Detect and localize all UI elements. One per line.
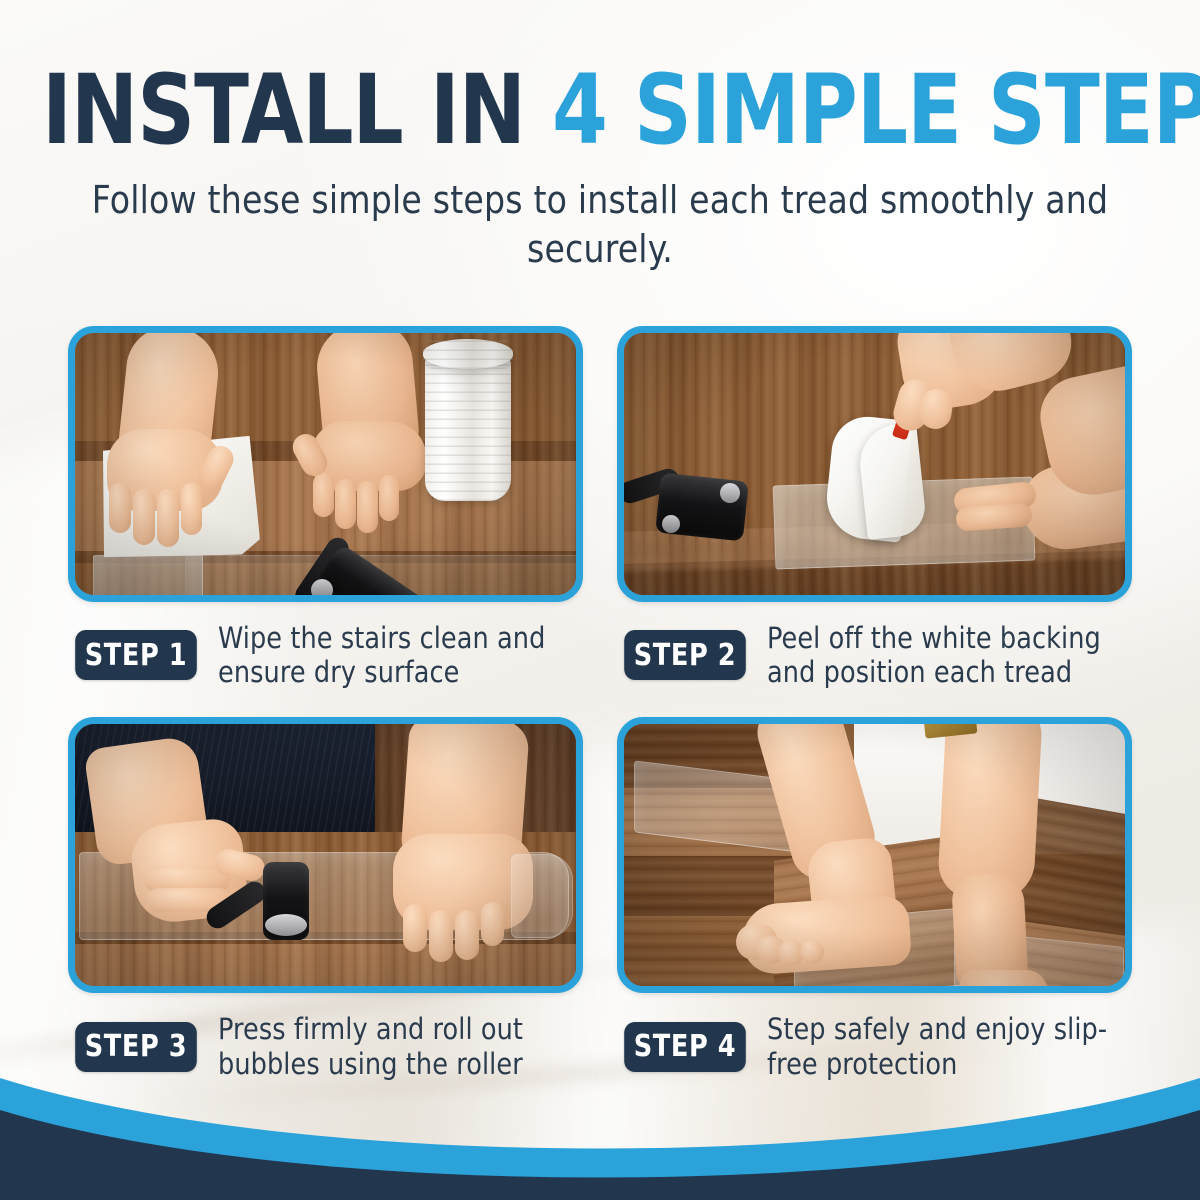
step-card-1: STEP 1 Wipe the stairs clean and ensure …: [68, 326, 583, 689]
step-2-photo: [617, 326, 1132, 602]
step-1-caption: STEP 1 Wipe the stairs clean and ensure …: [68, 621, 583, 689]
page-title-blue-part: 4 SIMPLE STEPS: [552, 54, 1200, 166]
footer-curve: [0, 1060, 1200, 1200]
page-title: INSTALL IN 4 SIMPLE STEPS: [42, 62, 1158, 158]
step-card-2: STEP 2 Peel off the white backing and po…: [617, 326, 1132, 689]
steps-row-bottom: STEP 3 Press firmly and roll out bubbles…: [68, 717, 1132, 1080]
step-1-badge: STEP 1: [75, 630, 197, 680]
page-subtitle: Follow these simple steps to install eac…: [18, 176, 1182, 275]
step-2-badge: STEP 2: [624, 630, 746, 680]
header: INSTALL IN 4 SIMPLE STEPS Follow these s…: [0, 62, 1200, 275]
step-1-photo: [68, 326, 583, 602]
step-1-text: Wipe the stairs clean and ensure dry sur…: [218, 621, 576, 689]
steps-row-top: STEP 1 Wipe the stairs clean and ensure …: [68, 326, 1132, 689]
step-card-3: STEP 3 Press firmly and roll out bubbles…: [68, 717, 583, 1080]
infographic-page: INSTALL IN 4 SIMPLE STEPS Follow these s…: [0, 0, 1200, 1200]
step-card-4: STEP 4 Step safely and enjoy slip-free p…: [617, 717, 1132, 1080]
footer-curve-svg: [0, 1060, 1200, 1200]
page-title-dark-part: INSTALL IN: [42, 54, 552, 166]
step-2-text: Peel off the white backing and position …: [767, 621, 1125, 689]
steps-grid: STEP 1 Wipe the stairs clean and ensure …: [68, 326, 1132, 1081]
step-4-photo: [617, 717, 1132, 993]
step-3-photo: [68, 717, 583, 993]
step-2-caption: STEP 2 Peel off the white backing and po…: [617, 621, 1132, 689]
